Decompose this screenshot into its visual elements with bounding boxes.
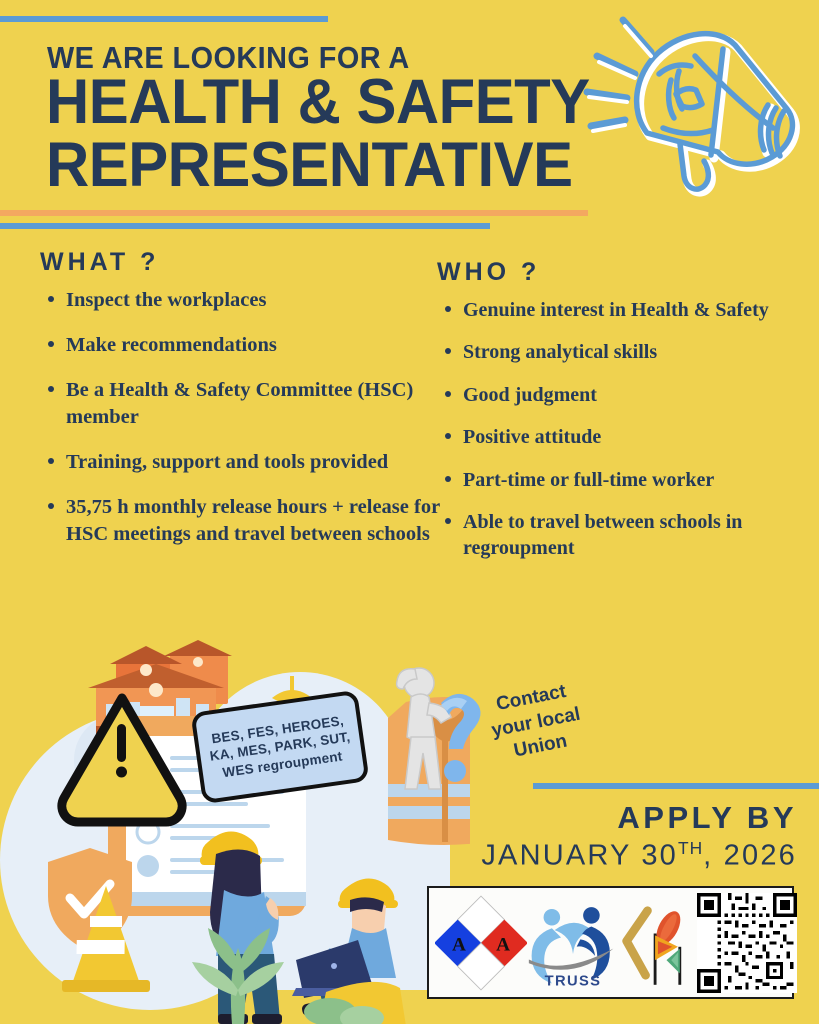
apply-by-block: APPLY BY JANUARY 30TH, 2026 — [481, 800, 797, 873]
spe-logo — [619, 894, 695, 992]
who-heading: WHO ? — [437, 258, 807, 287]
list-item: Good judgment — [437, 382, 807, 408]
list-item: Genuine interest in Health & Safety — [437, 297, 807, 323]
page-title-line1: HEALTH & SAFETY — [46, 71, 590, 134]
atae-logo: T A A E — [435, 894, 527, 992]
logo-bar: T A A E TRUSS — [427, 886, 794, 999]
apply-date-ordinal: TH — [678, 838, 703, 858]
list-item: Make recommendations — [40, 332, 440, 359]
list-item: Strong analytical skills — [437, 339, 807, 365]
truss-wordmark: TRUSS — [545, 973, 602, 989]
what-list: Inspect the workplaces Make recommendati… — [40, 287, 440, 548]
apply-date-prefix: JANUARY 30 — [481, 840, 678, 872]
atae-letter-e: E — [475, 956, 488, 977]
list-item: Training, support and tools provided — [40, 449, 440, 476]
list-item: Positive attitude — [437, 424, 807, 450]
what-column: WHAT ? Inspect the workplaces Make recom… — [40, 248, 440, 566]
orange-rule — [0, 210, 588, 216]
top-blue-rule — [0, 16, 328, 22]
atae-letter-a-left: A — [452, 934, 466, 955]
poster-root: WE ARE LOOKING FOR A HEALTH & SAFETY REP… — [0, 0, 819, 1024]
list-item: 35,75 h monthly release hours + release … — [40, 494, 440, 548]
who-column: WHO ? Genuine interest in Health & Safet… — [437, 258, 807, 578]
page-title-line2: REPRESENTATIVE — [46, 134, 573, 197]
apply-blue-rule — [533, 783, 819, 789]
atae-letter-t: T — [475, 912, 488, 933]
list-item: Be a Health & Safety Committee (HSC) mem… — [40, 377, 440, 431]
who-list: Genuine interest in Health & Safety Stro… — [437, 297, 807, 562]
list-item: Part-time or full-time worker — [437, 467, 807, 493]
atae-letter-a-right: A — [496, 934, 510, 955]
qr-code — [695, 893, 797, 993]
regroupment-bubble-text: BES, FES, HEROES, KA, MES, PARK, SUT, WE… — [197, 710, 363, 784]
list-item: Able to travel between schools in regrou… — [437, 509, 807, 562]
bottom-blue-rule — [0, 223, 490, 229]
megaphone-icon — [575, 8, 810, 203]
what-heading: WHAT ? — [40, 248, 440, 277]
truss-logo: TRUSS — [527, 894, 619, 992]
apply-date-suffix: , 2026 — [703, 840, 797, 872]
apply-by-label: APPLY BY — [481, 800, 797, 836]
apply-by-date: JANUARY 30TH, 2026 — [481, 838, 797, 873]
list-item: Inspect the workplaces — [40, 287, 440, 314]
